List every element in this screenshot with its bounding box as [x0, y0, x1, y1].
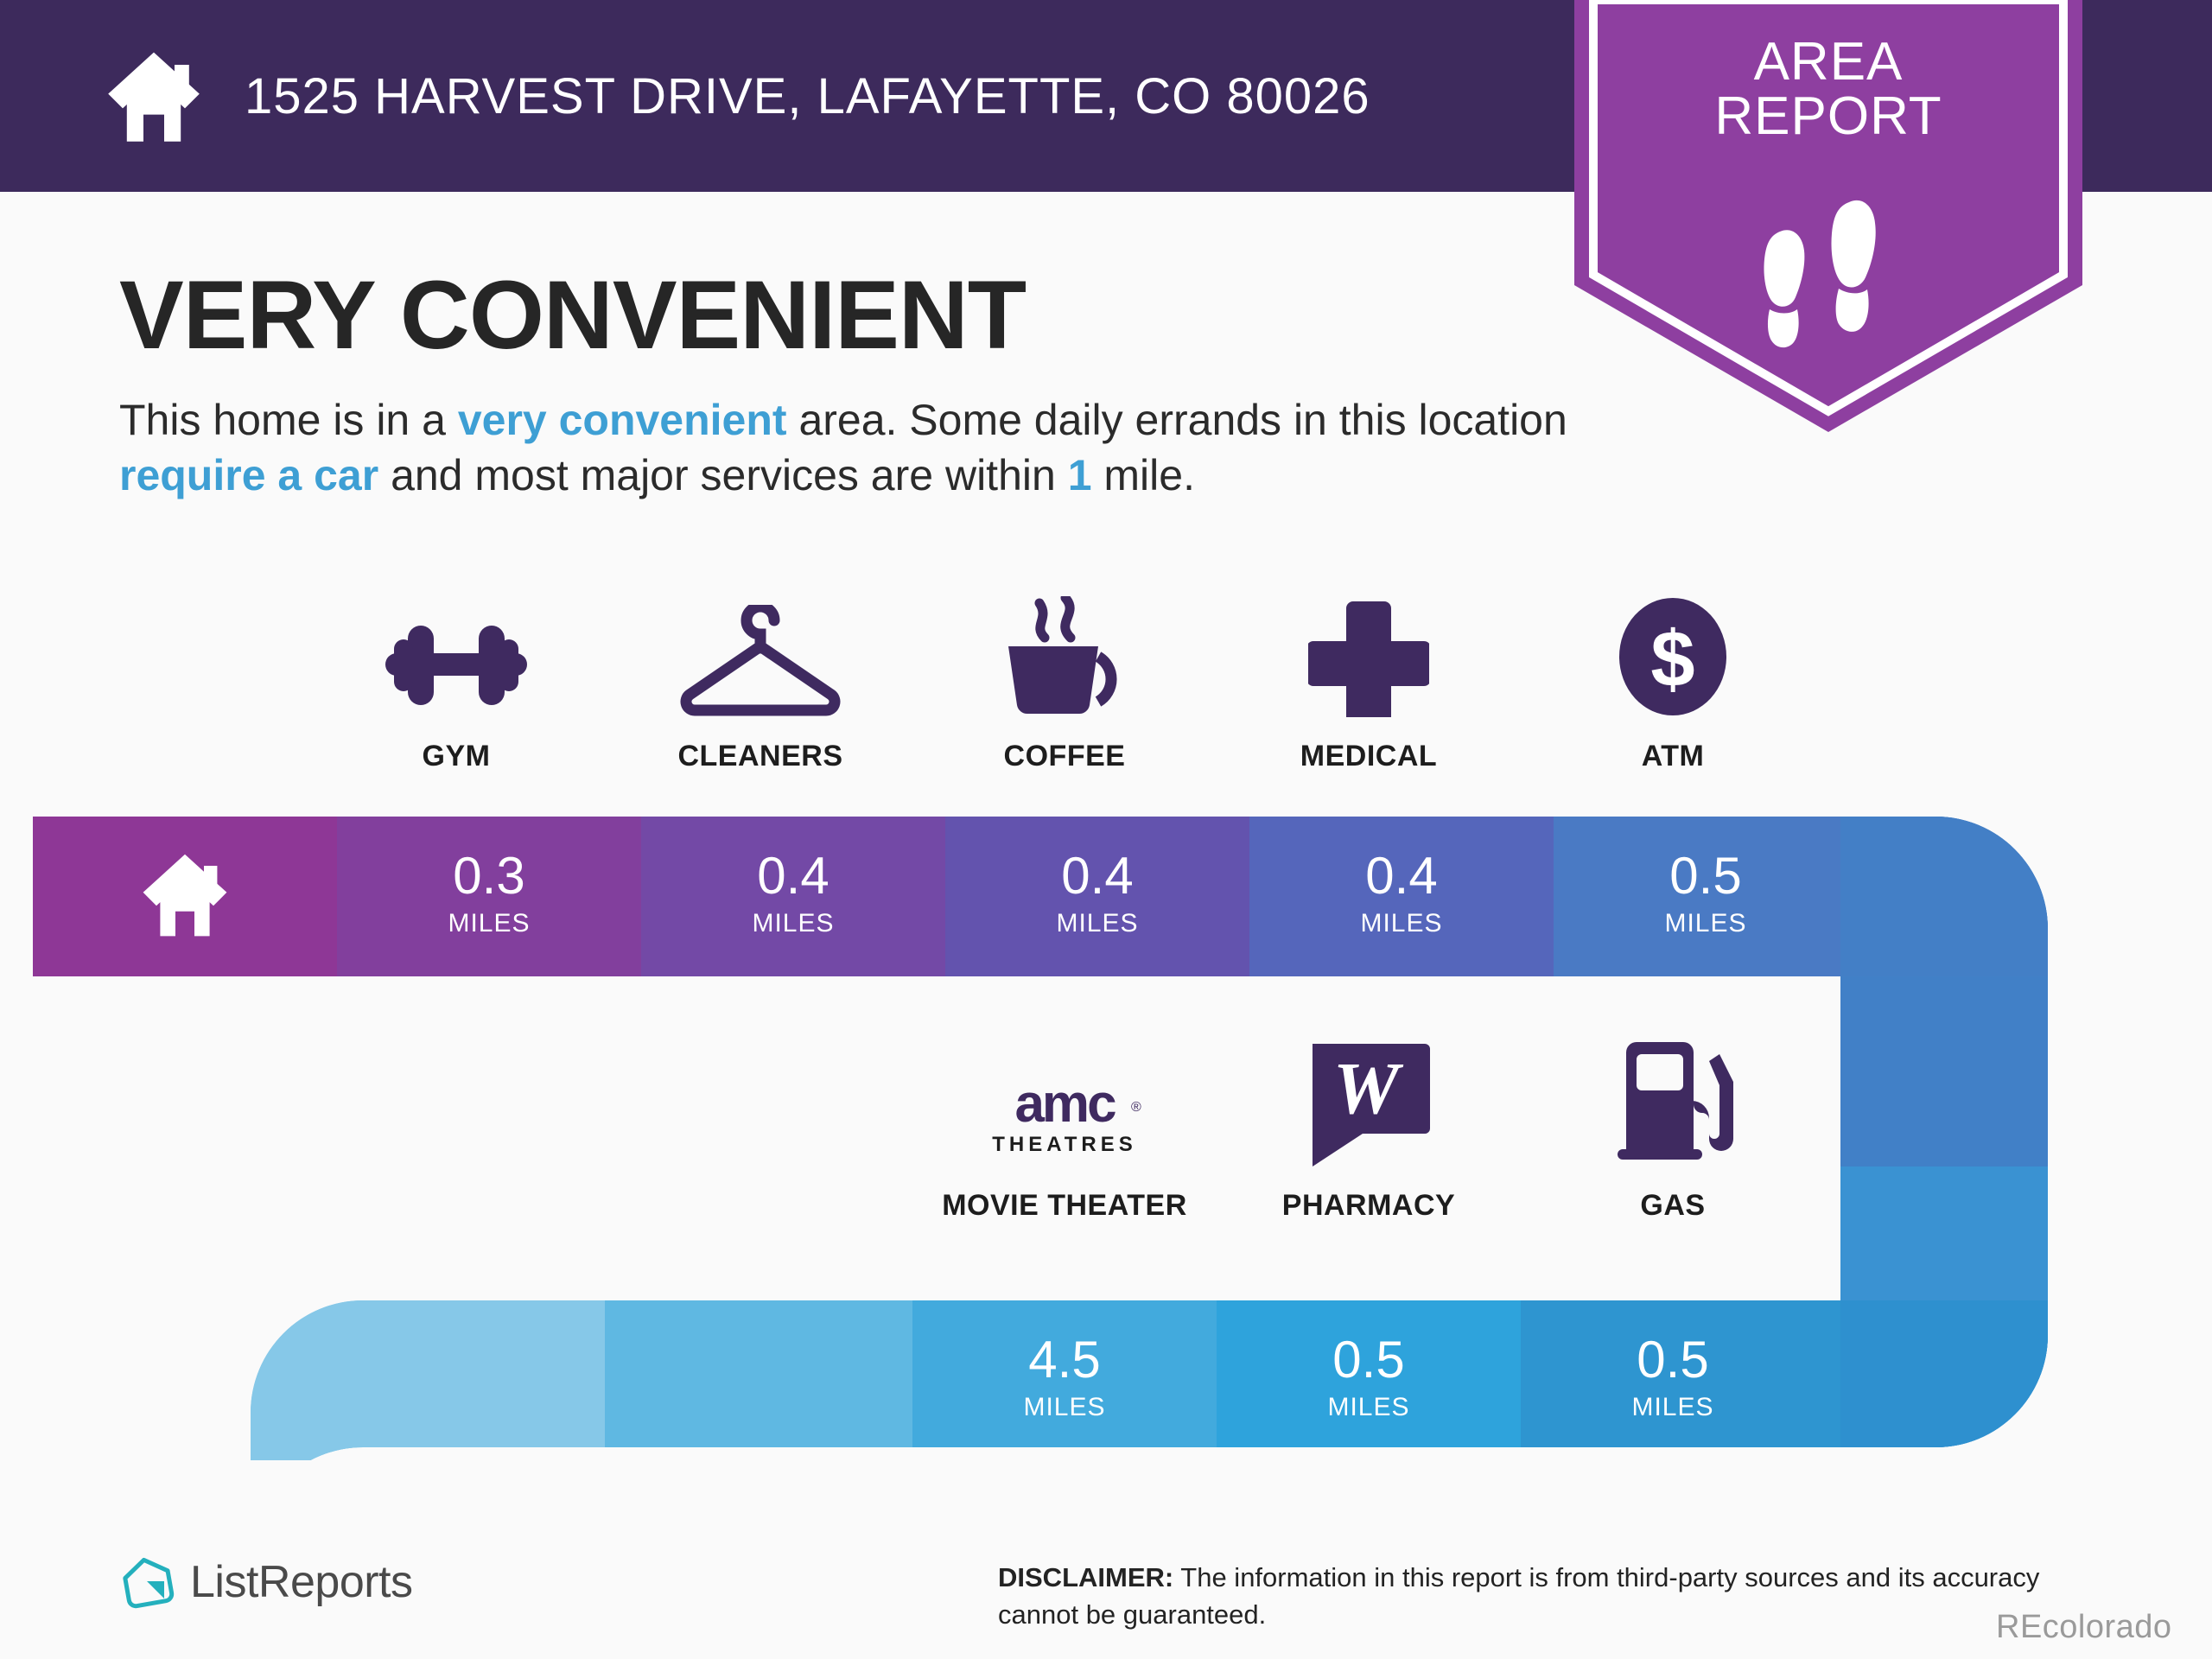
coffee-cup-icon	[991, 588, 1138, 717]
amenity-label: MEDICAL	[1300, 740, 1437, 773]
svg-text:$: $	[1650, 615, 1694, 703]
disclaimer-label: DISCLAIMER:	[998, 1562, 1173, 1592]
amenity-label: ATM	[1642, 740, 1705, 773]
amenity-label: COFFEE	[1004, 740, 1126, 773]
medical-cross-icon	[1308, 588, 1429, 717]
amenity-label: GYM	[423, 740, 491, 773]
listreports-wordmark: ListReports	[190, 1556, 413, 1608]
intro-part-3: and most major services are within	[378, 451, 1068, 499]
amenity-label: GAS	[1640, 1189, 1705, 1223]
intro-part-1: This home is in a	[119, 396, 458, 444]
distance-cell-coffee: 0.4 MILES	[945, 817, 1249, 972]
distance-value: 4.5	[1028, 1334, 1100, 1386]
listreports-house-icon	[121, 1555, 175, 1609]
property-address: 1525 HARVEST DRIVE, LAFAYETTE, CO 80026	[245, 67, 1370, 125]
intro-part-4: mile.	[1092, 451, 1195, 499]
dumbbell-icon	[378, 588, 534, 717]
dollar-circle-icon: $	[1612, 588, 1733, 717]
svg-text:THEATRES: THEATRES	[992, 1133, 1137, 1156]
amenity-gym: GYM	[304, 588, 608, 773]
distance-cell-medical: 0.4 MILES	[1249, 817, 1554, 972]
distance-value: 0.5	[1637, 1334, 1708, 1386]
distance-cell-pharmacy: 0.5 MILES	[1217, 1300, 1521, 1456]
distance-cell-movie-theater: 4.5 MILES	[912, 1300, 1217, 1456]
badge-line-2: REPORT	[1574, 89, 2082, 143]
distance-unit: MILES	[1360, 909, 1442, 938]
amenity-label: MOVIE THEATER	[942, 1189, 1187, 1223]
badge-line-1: AREA	[1574, 35, 2082, 89]
intro-highlight-car: require a car	[119, 451, 378, 499]
amenity-icon-row-secondary: amc ® THEATRES MOVIE THEATER W PHARMACY …	[912, 1037, 1825, 1223]
home-icon	[137, 847, 232, 942]
intro-part-2: area. Some daily errands in this locatio…	[787, 396, 1567, 444]
amenity-pharmacy: W PHARMACY	[1217, 1037, 1521, 1223]
distance-cell-atm: 0.5 MILES	[1554, 817, 1858, 972]
amc-theatres-logo: amc ® THEATRES	[974, 1037, 1155, 1166]
distance-cell-gas: 0.5 MILES	[1521, 1300, 1825, 1456]
distance-unit: MILES	[1631, 1393, 1713, 1422]
distance-value: 0.5	[1669, 850, 1741, 902]
amenity-gas: GAS	[1521, 1037, 1825, 1223]
gas-pump-icon	[1604, 1037, 1742, 1166]
distance-value: 0.4	[757, 850, 829, 902]
amenity-cleaners: CLEANERS	[608, 588, 912, 773]
recolorado-watermark: REcolorado	[1996, 1609, 2172, 1646]
badge-label: AREA REPORT	[1574, 35, 2082, 143]
disclaimer: DISCLAIMER: The information in this repo…	[998, 1560, 2121, 1634]
distance-value: 0.4	[1365, 850, 1437, 902]
intro-highlight-miles: 1	[1068, 451, 1092, 499]
distance-row-secondary: 4.5 MILES 0.5 MILES 0.5 MILES	[912, 1300, 1825, 1456]
area-report-badge: AREA REPORT	[1574, 0, 2082, 432]
distance-unit: MILES	[752, 909, 834, 938]
distance-value: 0.5	[1332, 1334, 1404, 1386]
amenity-label: PHARMACY	[1282, 1189, 1455, 1223]
distance-unit: MILES	[1056, 909, 1138, 938]
distance-cell-gym: 0.3 MILES	[337, 817, 641, 972]
distance-unit: MILES	[1664, 909, 1746, 938]
svg-text:®: ®	[1131, 1100, 1141, 1115]
distance-unit: MILES	[1327, 1393, 1409, 1422]
amenity-coffee: COFFEE	[912, 588, 1217, 773]
home-icon	[102, 44, 206, 148]
amenity-medical: MEDICAL	[1217, 588, 1521, 773]
distance-unit: MILES	[1023, 1393, 1105, 1422]
home-marker-cell	[33, 817, 337, 972]
hanger-icon	[674, 588, 847, 717]
amenity-atm: $ ATM	[1521, 588, 1825, 773]
distance-row-primary: 0.3 MILES 0.4 MILES 0.4 MILES 0.4 MILES …	[33, 817, 1858, 972]
distance-value: 0.4	[1061, 850, 1133, 902]
amenity-movie-theater: amc ® THEATRES MOVIE THEATER	[912, 1037, 1217, 1223]
svg-text:amc: amc	[1014, 1074, 1116, 1134]
distance-unit: MILES	[448, 909, 530, 938]
listreports-branding: ListReports	[121, 1555, 413, 1609]
svg-text:W: W	[1333, 1046, 1404, 1129]
amenity-icon-row-primary: GYM CLEANERS COFFEE MEDICAL	[304, 588, 1825, 773]
distance-value: 0.3	[453, 850, 524, 902]
page-title: VERY CONVENIENT	[119, 259, 1026, 371]
walgreens-logo: W	[1304, 1037, 1433, 1166]
intro-highlight-convenient: very convenient	[458, 396, 787, 444]
amenity-label: CLEANERS	[677, 740, 842, 773]
intro-paragraph: This home is in a very convenient area. …	[119, 393, 1571, 503]
distance-cell-cleaners: 0.4 MILES	[641, 817, 945, 972]
